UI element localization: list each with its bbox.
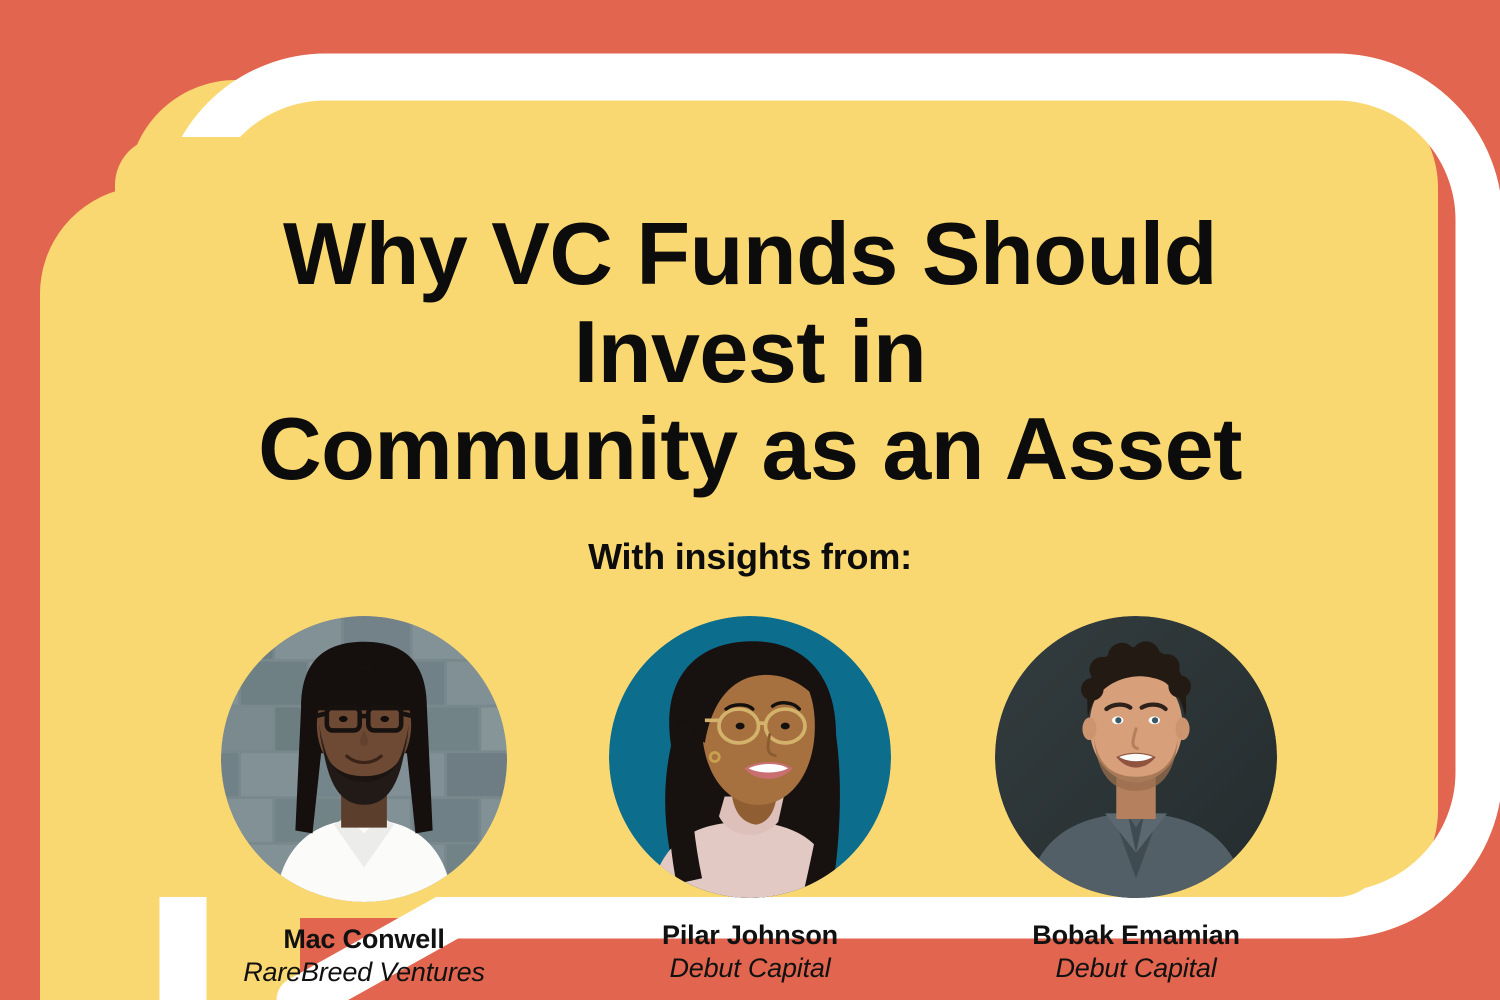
speaker-list: Mac Conwell RareBreed Ventures bbox=[115, 578, 1385, 989]
speaker-name: Pilar Johnson bbox=[600, 920, 900, 952]
speaker-org: RareBreed Ventures bbox=[214, 957, 514, 989]
avatar-photo-pilar-johnson bbox=[609, 616, 891, 898]
speaker-org: Debut Capital bbox=[600, 953, 900, 985]
avatar-photo-bobak-emamian bbox=[995, 616, 1277, 898]
card-content: Why VC Funds Should Invest in Community … bbox=[115, 137, 1385, 897]
speaker-org: Debut Capital bbox=[986, 953, 1286, 985]
avatar-photo-mac-conwell bbox=[221, 616, 507, 902]
page-title: Why VC Funds Should Invest in Community … bbox=[115, 137, 1385, 498]
title-line-1: Why VC Funds Should Invest in bbox=[283, 204, 1217, 401]
title-line-2: Community as an Asset bbox=[258, 399, 1242, 498]
speaker-card-3: Bobak Emamian Debut Capital bbox=[986, 616, 1286, 985]
speaker-name: Mac Conwell bbox=[214, 924, 514, 956]
speaker-card-2: Pilar Johnson Debut Capital bbox=[600, 616, 900, 985]
slide-canvas: Why VC Funds Should Invest in Community … bbox=[0, 0, 1500, 1000]
speaker-card-1: Mac Conwell RareBreed Ventures bbox=[214, 616, 514, 989]
speaker-name: Bobak Emamian bbox=[986, 920, 1286, 952]
subtitle: With insights from: bbox=[115, 498, 1385, 578]
